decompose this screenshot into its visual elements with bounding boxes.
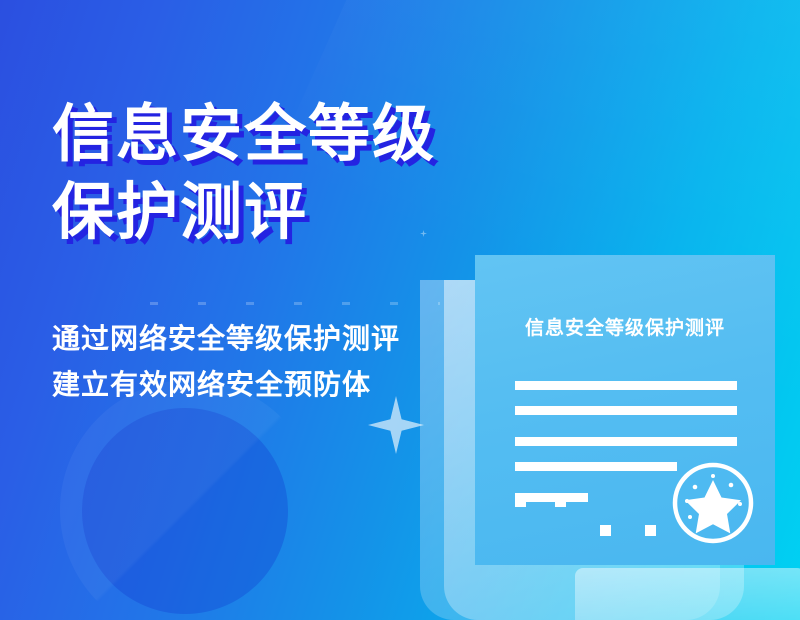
document-text-line	[515, 437, 737, 446]
document-dot	[600, 525, 611, 536]
headline-line-2: 保护测评	[52, 174, 572, 252]
document-dot	[645, 525, 656, 536]
dotted-divider	[150, 302, 440, 305]
document-dot	[515, 496, 526, 507]
document-dot	[555, 496, 566, 507]
document-sheet-front: 信息安全等级保护测评	[475, 255, 775, 565]
headline-line-1: 信息安全等级	[52, 96, 572, 174]
document-text-line	[515, 406, 737, 415]
page-title: 信息安全等级 保护测评	[52, 96, 572, 252]
document-title: 信息安全等级保护测评	[475, 313, 775, 340]
document-text-line	[515, 381, 737, 390]
document-base-plate	[575, 568, 800, 620]
background-circle	[82, 408, 288, 614]
star-seal-icon	[670, 460, 756, 546]
document-text-line	[515, 462, 677, 471]
circle-sheen	[60, 380, 320, 620]
promo-banner: 信息安全等级 保护测评 通过网络安全等级保护测评 建立有效网络安全预防体 信息安…	[0, 0, 800, 620]
